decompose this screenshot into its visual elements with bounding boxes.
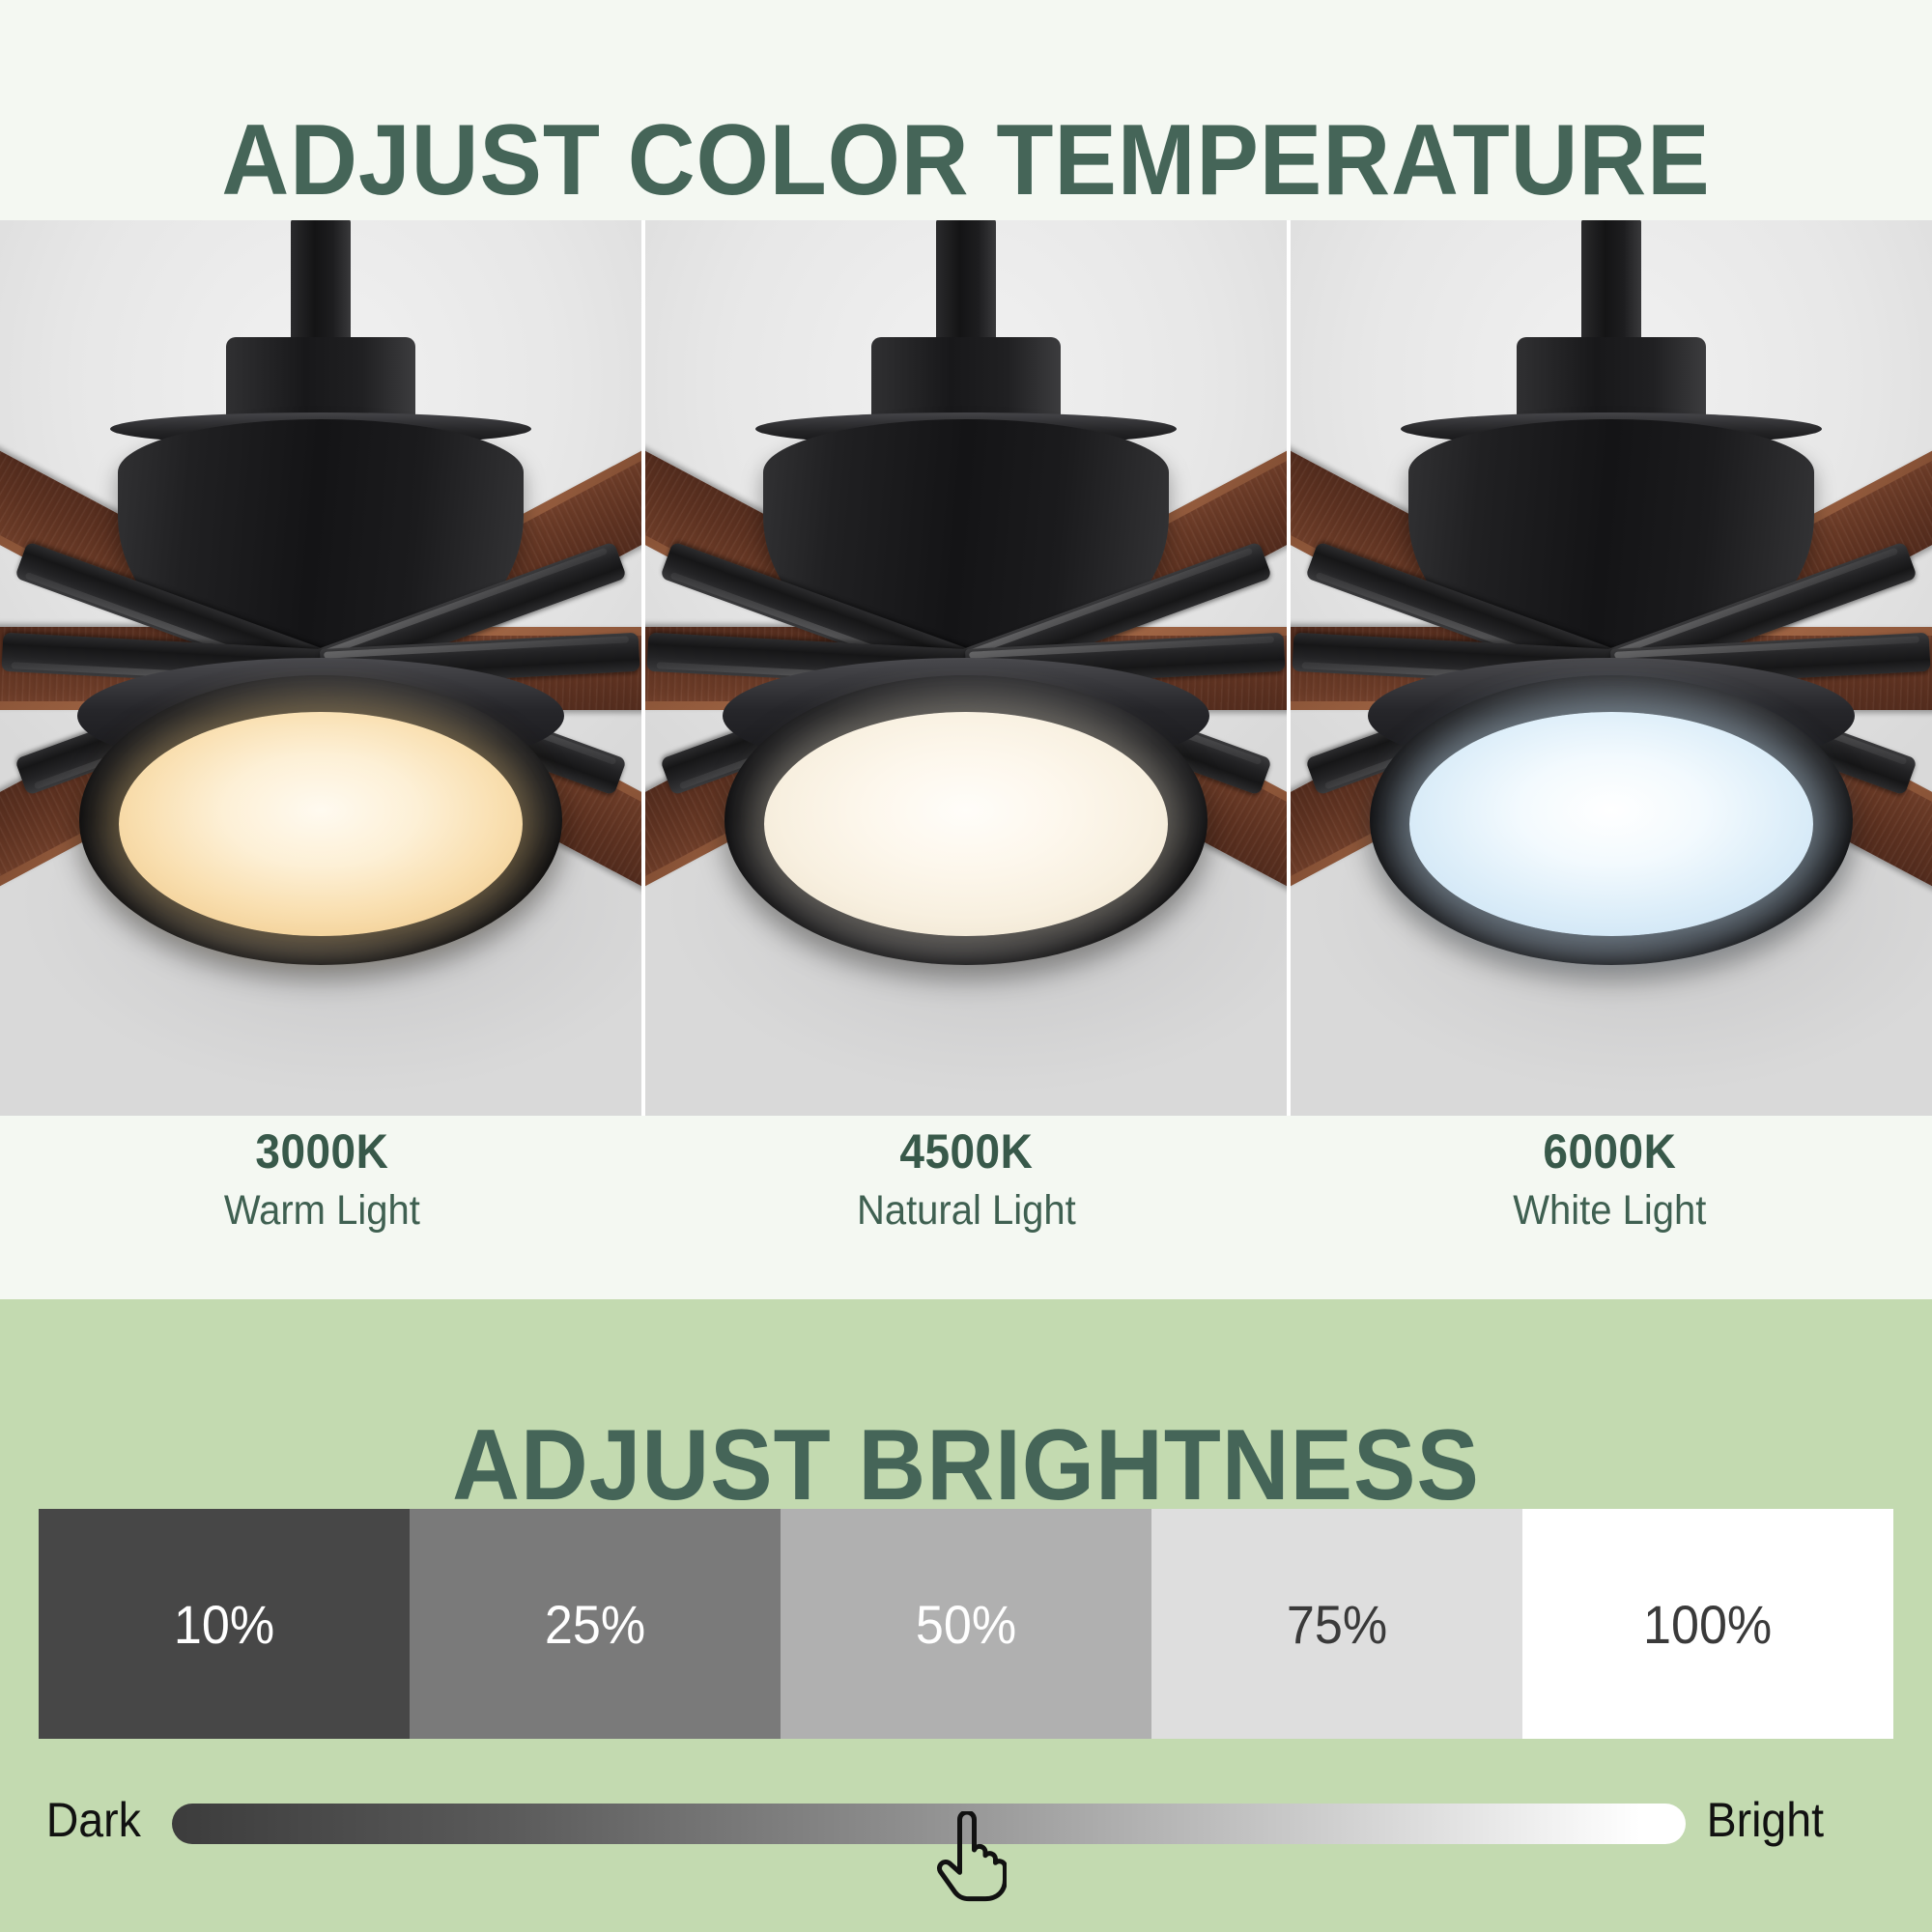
brightness-swatch-label: 25% — [545, 1593, 645, 1656]
ceiling-fan-icon — [2, 221, 639, 1117]
color-temperature-captions: 3000K Warm Light 4500K Natural Light 600… — [0, 1122, 1932, 1236]
caption-6000k: 6000K White Light — [1288, 1122, 1932, 1236]
slider-min-label: Dark — [43, 1796, 145, 1844]
fan-downrod — [1581, 220, 1641, 345]
fan-downrod — [291, 220, 351, 345]
brightness-slider-row: Dark Bright — [0, 1790, 1932, 1867]
caption-4500k: 4500K Natural Light — [644, 1122, 1289, 1236]
brightness-swatch-row: 10% 25% 50% 75% 100% — [39, 1509, 1893, 1739]
brightness-swatch-75[interactable]: 75% — [1151, 1509, 1522, 1739]
brightness-swatch-label: 50% — [916, 1593, 1016, 1656]
kelvin-value: 6000K — [1314, 1122, 1906, 1180]
fan-photo-3000k — [0, 220, 641, 1116]
brightness-swatch-100[interactable]: 100% — [1522, 1509, 1893, 1739]
fan-downrod — [936, 220, 996, 345]
slider-max-label-text: Bright — [1707, 1796, 1824, 1844]
kelvin-value: 3000K — [26, 1122, 618, 1180]
kelvin-value: 4500K — [669, 1122, 1262, 1180]
fan-light-lens — [1409, 712, 1813, 936]
color-temperature-title: ADJUST COLOR TEMPERATURE — [68, 108, 1864, 213]
slider-max-label: Bright — [1702, 1796, 1829, 1844]
brightness-swatch-label: 100% — [1643, 1593, 1772, 1656]
product-infographic: ADJUST COLOR TEMPERATURE — [0, 0, 1932, 1932]
brightness-swatch-25[interactable]: 25% — [410, 1509, 781, 1739]
color-temperature-photo-band — [0, 220, 1932, 1116]
brightness-swatch-10[interactable]: 10% — [39, 1509, 410, 1739]
kelvin-name: Natural Light — [667, 1186, 1265, 1236]
fan-light-lens — [119, 712, 523, 936]
color-temperature-section: ADJUST COLOR TEMPERATURE — [0, 0, 1932, 1299]
brightness-section: ADJUST BRIGHTNESS 10% 25% 50% 75% 100% D… — [0, 1299, 1932, 1932]
pointing-hand-cursor-icon[interactable] — [935, 1811, 1007, 1902]
brightness-title: ADJUST BRIGHTNESS — [68, 1413, 1864, 1519]
fan-light-lens — [764, 712, 1168, 936]
brightness-swatch-label: 75% — [1287, 1593, 1387, 1656]
ceiling-fan-icon — [647, 221, 1285, 1117]
brightness-slider-track[interactable] — [172, 1804, 1686, 1844]
ceiling-fan-icon — [1293, 221, 1930, 1117]
caption-3000k: 3000K Warm Light — [0, 1122, 644, 1236]
fan-photo-4500k — [645, 220, 1287, 1116]
brightness-swatch-label: 10% — [174, 1593, 274, 1656]
kelvin-name: Warm Light — [22, 1186, 621, 1236]
kelvin-name: White Light — [1311, 1186, 1910, 1236]
brightness-swatch-50[interactable]: 50% — [781, 1509, 1151, 1739]
slider-min-label-text: Dark — [46, 1796, 141, 1844]
fan-photo-6000k — [1291, 220, 1932, 1116]
